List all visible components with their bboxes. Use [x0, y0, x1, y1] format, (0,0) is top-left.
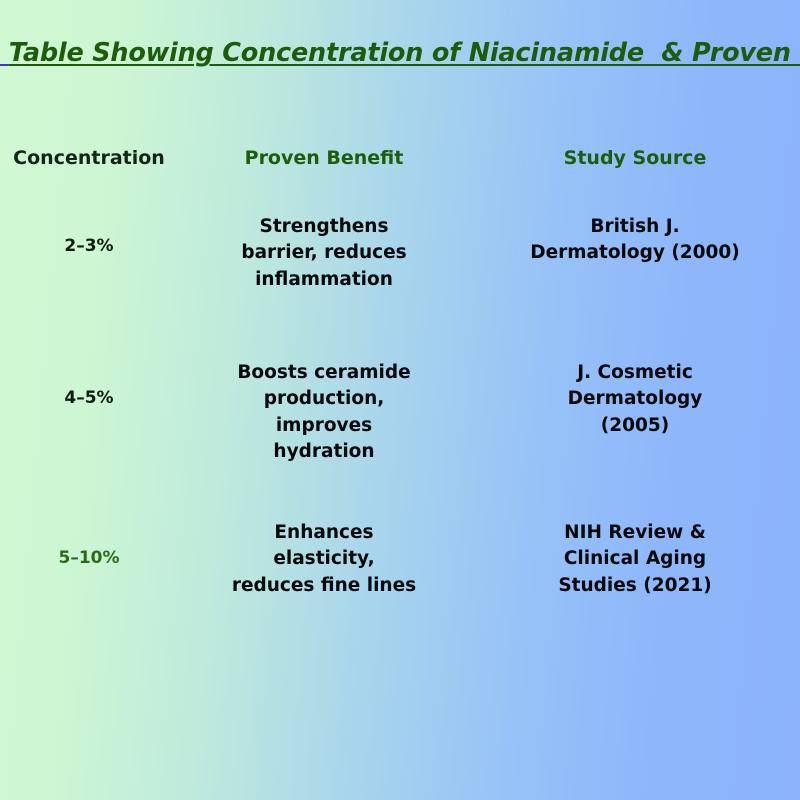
- cell-study-source: NIH Review & Clinical Aging Studies (202…: [470, 520, 800, 646]
- cell-proven-benefit: Strengthens barrier, reduces inflammatio…: [178, 208, 470, 346]
- source-line: Dermatology: [496, 386, 774, 412]
- cell-proven-benefit: Boosts ceramide production, improves hyd…: [178, 360, 470, 506]
- cell-proven-benefit: Enhances elasticity, reduces fine lines: [178, 520, 470, 646]
- benefit-line: elasticity,: [196, 546, 452, 572]
- benefit-line: inflammation: [196, 267, 452, 293]
- source-line: Studies (2021): [496, 573, 774, 599]
- column-header-proven-benefit: Proven Benefit: [178, 132, 470, 171]
- cell-study-source: J. Cosmetic Dermatology (2005): [470, 360, 800, 506]
- benefit-line: improves: [196, 413, 452, 439]
- title-container: Table Showing Concentration of Niacinami…: [0, 38, 800, 70]
- table-header-row: Concentration Proven Benefit Study Sourc…: [0, 132, 800, 194]
- benefit-line: Boosts ceramide: [196, 360, 452, 386]
- benefit-line: Strengthens: [196, 214, 452, 240]
- table-row: 4–5% Boosts ceramide production, improve…: [0, 346, 800, 506]
- page-title-text: Table Showing Concentration of Niacinami…: [9, 38, 800, 68]
- column-header-concentration: Concentration: [0, 132, 178, 171]
- source-line: Clinical Aging: [496, 546, 774, 572]
- source-line: Dermatology (2000): [496, 240, 774, 266]
- benefit-line: barrier, reduces: [196, 240, 452, 266]
- benefit-line: Enhances: [196, 520, 452, 546]
- benefit-line: reduces fine lines: [196, 573, 452, 599]
- source-line: NIH Review &: [496, 520, 774, 546]
- cell-concentration: 4–5%: [0, 360, 178, 506]
- source-line: British J.: [496, 214, 774, 240]
- cell-concentration: 2–3%: [0, 208, 178, 346]
- table-row: 5–10% Enhances elasticity, reduces fine …: [0, 506, 800, 646]
- source-line: J. Cosmetic: [496, 360, 774, 386]
- cell-concentration: 5–10%: [0, 520, 178, 646]
- column-header-study-source: Study Source: [470, 132, 800, 171]
- slide-canvas: Table Showing Concentration of Niacinami…: [0, 0, 800, 800]
- cell-study-source: British J. Dermatology (2000): [470, 208, 800, 346]
- benefits-table: Concentration Proven Benefit Study Sourc…: [0, 132, 800, 646]
- page-title: Table Showing Concentration of Niacinami…: [0, 38, 800, 70]
- title-leading-underline: [0, 38, 9, 68]
- table-row: 2–3% Strengthens barrier, reduces inflam…: [0, 194, 800, 346]
- benefit-line: production,: [196, 386, 452, 412]
- benefit-line: hydration: [196, 439, 452, 465]
- source-line: (2005): [496, 413, 774, 439]
